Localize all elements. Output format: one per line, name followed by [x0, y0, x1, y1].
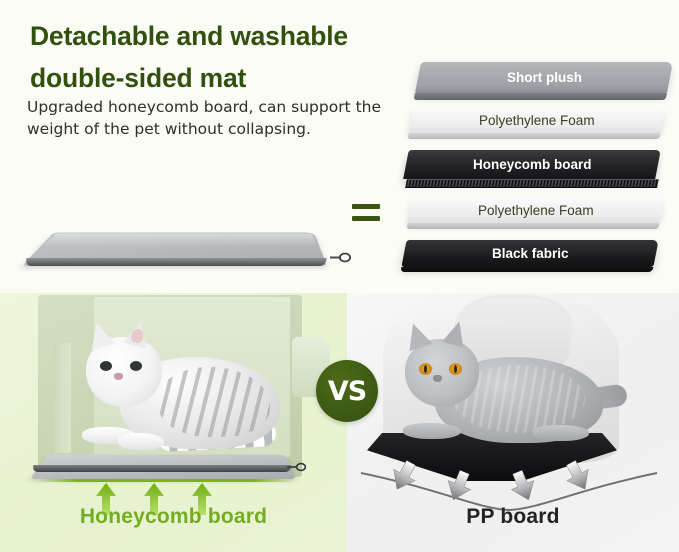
- equals-sign: [352, 204, 380, 226]
- support-baseline-left: [36, 479, 294, 482]
- equals-bar-bottom: [352, 216, 380, 221]
- cat-nose: [433, 375, 442, 382]
- layer-black-fabric: Black fabric: [401, 240, 658, 267]
- honeycomb-flute-edge: [405, 179, 659, 188]
- layer-stack-diagram: Short plush Polyethylene Foam Honeycomb …: [404, 62, 672, 274]
- cat-nose: [114, 373, 123, 380]
- zipper-pull-icon: [286, 459, 306, 469]
- layer-short-plush: Short plush: [415, 62, 673, 93]
- caption-pp-board: PP board: [347, 505, 679, 529]
- layer-polyethylene-foam-top: Polyethylene Foam: [409, 108, 666, 133]
- headline-block: Detachable and washable double-sided mat: [27, 17, 407, 97]
- cat-photo-left: [62, 311, 292, 471]
- cat-paw-front-right: [533, 425, 589, 441]
- layer-label: Black fabric: [492, 246, 569, 261]
- zipper-pull-icon: [328, 252, 351, 263]
- honeycomb-mat-edge: [33, 465, 292, 472]
- layer-label: Honeycomb board: [473, 157, 592, 172]
- headline-subtitle: Upgraded honeycomb board, can support th…: [27, 96, 387, 140]
- feature-top-section: Detachable and washable double-sided mat…: [0, 0, 679, 293]
- flat-mat-figure: [12, 188, 342, 283]
- cat-eye-right: [449, 363, 462, 375]
- cat-paw-front-right: [118, 433, 164, 450]
- vs-badge-label: VS: [328, 376, 366, 407]
- caption-honeycomb-board: Honeycomb board: [0, 505, 347, 529]
- cat-eye-left: [100, 361, 112, 371]
- equals-bar-top: [352, 204, 380, 209]
- layer-label: Short plush: [507, 70, 582, 85]
- headline-line-1: Detachable and washable: [27, 17, 351, 55]
- cat-photo-right: [383, 315, 623, 465]
- vs-badge: VS: [316, 360, 378, 422]
- flat-mat-edge: [25, 258, 326, 266]
- cat-eye-left: [419, 363, 432, 375]
- layer-polyethylene-foam-bottom: Polyethylene Foam: [408, 198, 665, 223]
- headline-line-2: double-sided mat: [27, 59, 249, 97]
- layer-label: Polyethylene Foam: [479, 113, 595, 128]
- layer-label: Polyethylene Foam: [478, 203, 594, 218]
- cat-paw-front-left: [403, 423, 461, 439]
- cat-eye-right: [130, 361, 142, 371]
- cat-head: [405, 339, 479, 407]
- comparison-section: VS Honeycomb board PP board: [0, 293, 679, 552]
- layer-honeycomb-board: Honeycomb board: [403, 150, 661, 179]
